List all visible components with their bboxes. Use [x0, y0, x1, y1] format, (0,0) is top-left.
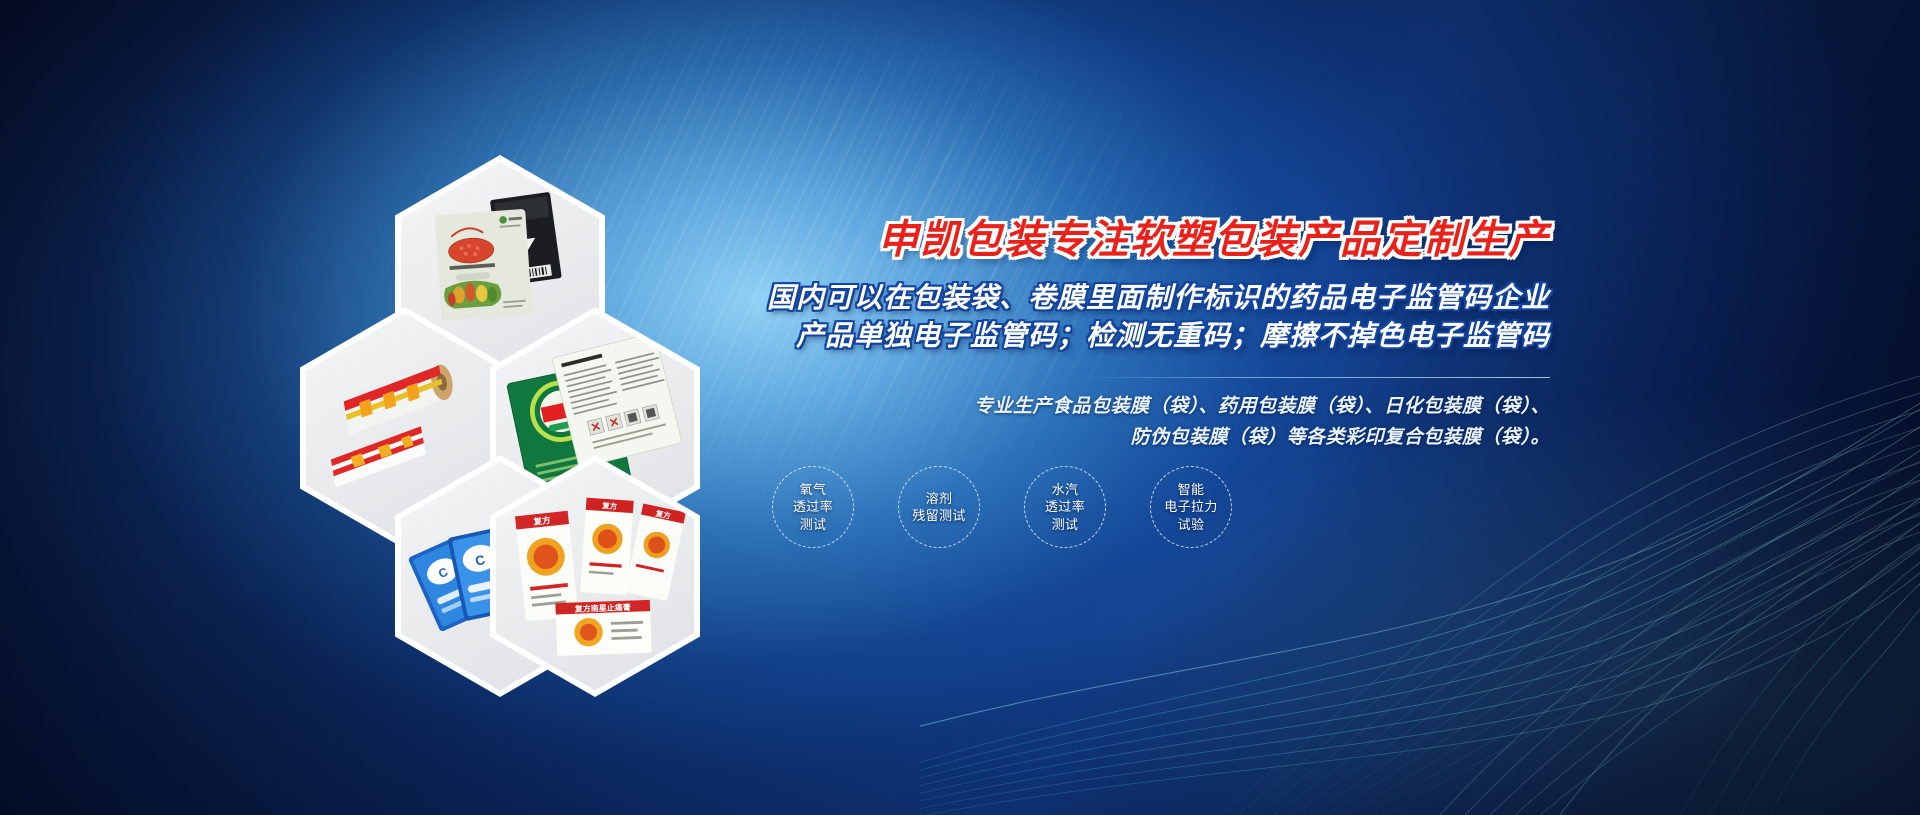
hex-inner-surface: 复方 复方 — [496, 462, 694, 691]
text-copy-block: 申凯包装专注软塑包装产品定制生产 国内可以在包装袋、卷膜里面制作标识的药品电子监… — [660, 215, 1550, 454]
test-capability-badges: 氧气 透过率 测试 溶剂 残留测试 水汽 透过率 测试 智能 电子拉力 试验 — [772, 466, 1232, 548]
badge-line: 透过率 — [793, 498, 833, 515]
badge-line: 试验 — [1178, 516, 1205, 533]
badge-line: 透过率 — [1045, 498, 1085, 515]
subtitle-line-1: 国内可以在包装袋、卷膜里面制作标识的药品电子监管码企业 — [660, 279, 1550, 317]
badge-oxygen-transmission-test[interactable]: 氧气 透过率 测试 — [772, 466, 854, 548]
product-photo-medicine-sachets: 复方 复方 — [496, 462, 694, 691]
description-line-1: 专业生产食品包装膜（袋）、药用包装膜（袋）、日化包装膜（袋）、 — [660, 392, 1550, 423]
badge-line: 测试 — [800, 516, 827, 533]
badge-line: 智能 — [1178, 481, 1205, 498]
section-divider — [1080, 377, 1550, 378]
badge-line: 测试 — [1052, 516, 1079, 533]
badge-water-vapor-transmission-test[interactable]: 水汽 透过率 测试 — [1024, 466, 1106, 548]
description-group: 专业生产食品包装膜（袋）、药用包装膜（袋）、日化包装膜（袋）、 防伪包装膜（袋）… — [660, 392, 1550, 454]
badge-line: 电子拉力 — [1164, 498, 1218, 515]
promo-banner: C C — [0, 0, 1920, 815]
badge-smart-electronic-tensile-test[interactable]: 智能 电子拉力 试验 — [1150, 466, 1232, 548]
subtitle-line-2: 产品单独电子监管码；检测无重码；摩擦不掉色电子监管码 — [660, 317, 1550, 355]
badge-line: 水汽 — [1052, 481, 1079, 498]
svg-text:复方南星止痛膏: 复方南星止痛膏 — [574, 602, 631, 614]
badge-solvent-residue-test[interactable]: 溶剂 残留测试 — [898, 466, 980, 548]
hexagon-product-cluster: C C — [300, 155, 720, 575]
badge-line: 氧气 — [800, 481, 827, 498]
page-title: 申凯包装专注软塑包装产品定制生产 — [660, 215, 1550, 265]
svg-text:复方: 复方 — [601, 500, 618, 511]
description-line-2: 防伪包装膜（袋）等各类彩印复合包装膜（袋）。 — [660, 423, 1550, 454]
subtitle-group: 国内可以在包装袋、卷膜里面制作标识的药品电子监管码企业 产品单独电子监管码；检测… — [660, 279, 1550, 355]
badge-line: 溶剂 — [926, 490, 953, 507]
badge-line: 残留测试 — [912, 507, 966, 524]
svg-text:复方: 复方 — [532, 515, 551, 527]
